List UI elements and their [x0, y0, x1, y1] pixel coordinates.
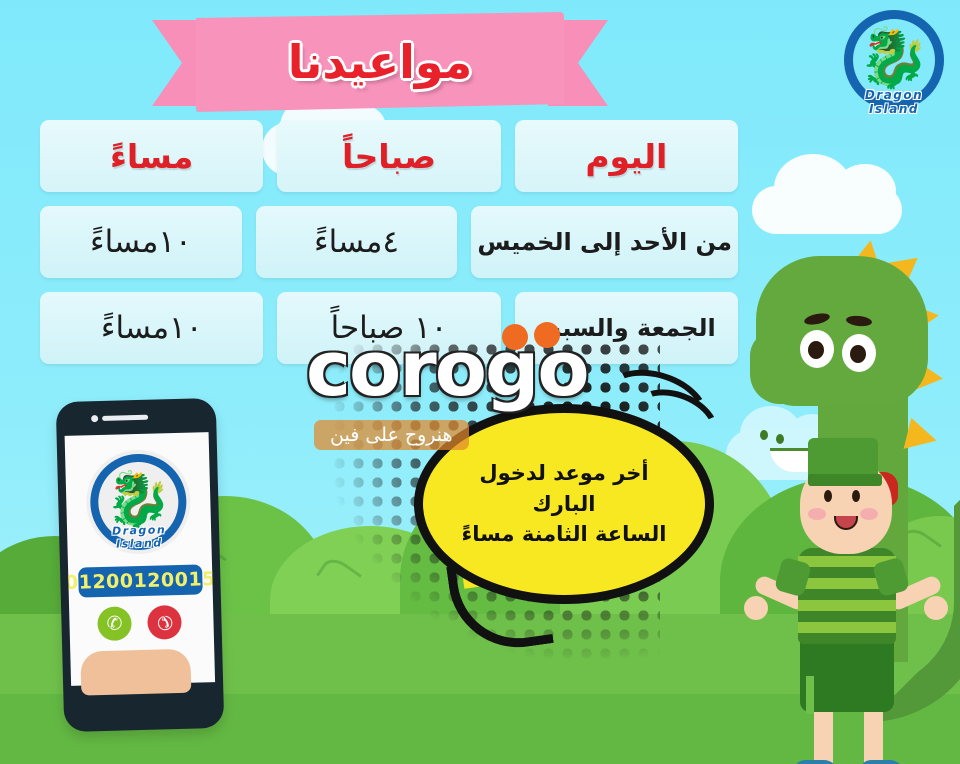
logo-brand-text: Dragon Island [840, 88, 948, 116]
boy-character [760, 438, 940, 764]
earpiece-speaker [102, 415, 148, 421]
column-header-evening-label: مساءً [110, 137, 193, 176]
cell-evening-value: ١٠مساءً [90, 224, 192, 260]
dino-eye [842, 334, 876, 372]
speech-bubble-line-2: الساعة الثامنة مساءً [445, 519, 683, 549]
watermark-dot [534, 322, 560, 348]
phone-screen[interactable]: 🐉 Dragon Island 01200120015 ✆ ✆ [65, 432, 215, 686]
phone-hangup-icon: ✆ [151, 609, 178, 636]
dragon-island-logo[interactable]: 🐉 Dragon Island [840, 6, 948, 114]
accept-call-button[interactable]: ✆ [97, 606, 132, 641]
column-header-morning-label: صباحاً [342, 137, 436, 176]
phone-handset-icon: ✆ [106, 612, 122, 634]
boy-cheek [860, 508, 878, 520]
poster-canvas: مواعيدنا 🐉 Dragon Island اليوم صباحاً مس… [0, 0, 960, 764]
table-row: من الأحد إلى الخميس ٤مساءً ١٠مساءً [40, 206, 738, 278]
column-header-morning: صباحاً [277, 120, 500, 192]
cell-morning-value: ٤مساءً [314, 224, 399, 260]
shirt-stripe [798, 622, 896, 633]
logo-brand-text: Dragon Island [87, 523, 192, 552]
dino-head [756, 256, 928, 406]
dino-eyebrow [846, 315, 873, 328]
speech-bubble-text: أخر موعد لدخول البارك الساعة الثامنة مسا… [423, 458, 705, 549]
boy-shoe [860, 760, 904, 764]
cell-day-value: من الأحد إلى الخميس [477, 228, 732, 256]
cell-day: من الأحد إلى الخميس [471, 206, 738, 278]
watermark-brand: corogo [306, 334, 646, 404]
column-header-day: اليوم [515, 120, 738, 192]
phone-dragon-island-logo: 🐉 Dragon Island [85, 449, 192, 556]
boy-hand [744, 596, 768, 620]
boy-shorts-split [806, 676, 814, 714]
front-camera-icon [91, 415, 98, 422]
dragon-icon: 🐉 [104, 472, 173, 528]
boy-eye [824, 490, 832, 502]
shirt-stripe [798, 600, 896, 611]
smartphone[interactable]: 🐉 Dragon Island 01200120015 ✆ ✆ [56, 398, 225, 732]
decline-call-button[interactable]: ✆ [147, 605, 182, 640]
column-header-evening: مساءً [40, 120, 263, 192]
column-header-day-label: اليوم [585, 137, 667, 176]
cell-evening-value: ١٠مساءً [101, 310, 203, 346]
boy-eye [852, 490, 860, 502]
boy-shorts [800, 638, 894, 712]
phone-number-display[interactable]: 01200120015 [78, 564, 203, 597]
watermark: corogo هنروح على فين [306, 334, 646, 444]
cell-morning: ٤مساءً [256, 206, 458, 278]
table-header-row: اليوم صباحاً مساءً [40, 120, 738, 192]
dino-eyebrow [803, 311, 831, 326]
watermark-tagline: هنروح على فين [314, 420, 469, 450]
speech-bubble-line-1: أخر موعد لدخول البارك [445, 458, 683, 519]
boy-hand [924, 596, 948, 620]
boy-leg [814, 706, 833, 764]
cell-evening: ١٠مساءً [40, 292, 263, 364]
cell-evening: ١٠مساءً [40, 206, 242, 278]
boy-cheek [808, 508, 826, 520]
watermark-dot [502, 324, 528, 350]
page-title: مواعيدنا [152, 12, 608, 112]
dino-eye [800, 330, 834, 368]
boy-leg [864, 706, 883, 764]
dragon-icon: 🐉 [858, 29, 930, 87]
boy-mouth [834, 516, 858, 530]
thumb [80, 649, 191, 696]
boy-hat-band [808, 474, 882, 486]
